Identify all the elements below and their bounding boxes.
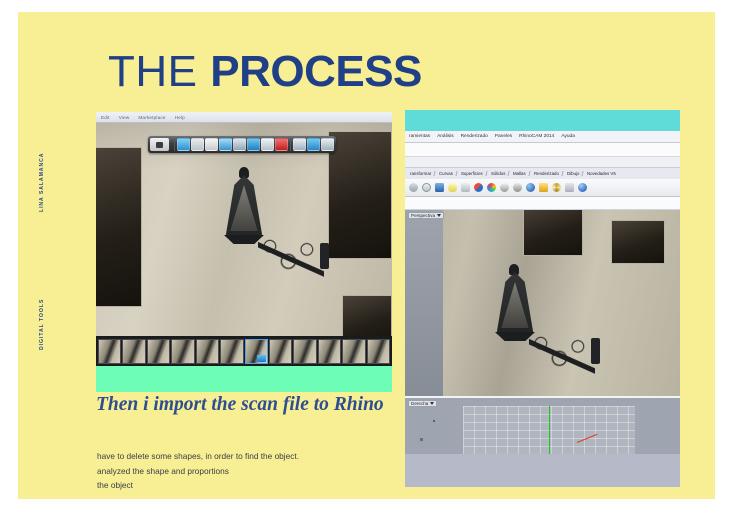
light-bulb-icon[interactable] <box>448 183 457 192</box>
tab-novedades-v5[interactable]: Novedades V5 <box>584 171 620 176</box>
rhino-menu-renderizado[interactable]: Renderizado <box>461 134 488 139</box>
viewport-window-upper <box>523 210 583 256</box>
rhino-menu-herramientas[interactable]: ramientas <box>409 134 430 139</box>
scan-app-screenshot: Edit View Marketplace Help <box>96 112 392 392</box>
duplicate-icon[interactable] <box>191 138 204 151</box>
tab-mallas[interactable]: Mallas <box>510 171 531 176</box>
scan-capture-toolbar[interactable] <box>148 136 336 153</box>
tab-label: Dibujo <box>567 171 579 176</box>
lamp-scroll-arm <box>258 239 324 279</box>
rhino-viewport-derecha[interactable]: Derecha <box>405 398 680 454</box>
body-line-1: have to delete some shapes, in order to … <box>97 449 397 464</box>
material-icon[interactable] <box>474 183 483 192</box>
photo-window-right <box>328 131 392 259</box>
tab-dibujo[interactable]: Dibujo <box>563 171 584 176</box>
photo-window-left <box>96 147 142 307</box>
shade-sphere-icon[interactable] <box>500 183 509 192</box>
rhino-status-line <box>405 197 680 210</box>
rhino-menu-paneles[interactable]: Paneles <box>495 134 512 139</box>
rhino-menubar: ramientas Análisis Renderizado Paneles R… <box>405 131 680 143</box>
mask-icon[interactable] <box>205 138 218 151</box>
tab-curvas[interactable]: Curvas <box>436 171 458 176</box>
scan-menu-marketplace[interactable]: Marketplace <box>138 115 165 120</box>
tab-label: Superficies <box>461 171 483 176</box>
body-line-2: analyzed the shape and proportions <box>97 464 397 479</box>
chevron-down-icon[interactable] <box>437 214 441 217</box>
viewport-window-right <box>611 220 665 264</box>
export-icon[interactable] <box>321 138 334 151</box>
rhino-viewport-perspective[interactable]: Perspectiva <box>405 210 680 396</box>
rhino-menu-ayuda[interactable]: Ayuda <box>561 134 575 139</box>
viewport-lamp-mount <box>591 338 600 364</box>
viewport-point-b <box>420 438 423 441</box>
list-item[interactable] <box>220 339 243 364</box>
list-item[interactable] <box>293 339 316 364</box>
toolbar-divider-2 <box>290 138 291 151</box>
select-icon[interactable] <box>409 183 418 192</box>
mint-accent-bar <box>96 366 392 392</box>
bounding-box-icon[interactable] <box>565 183 574 192</box>
axis-y-green <box>549 406 550 454</box>
list-item[interactable] <box>171 339 194 364</box>
camera-shutter-icon[interactable] <box>150 138 169 151</box>
side-label-course: DIGITAL TOOLS <box>39 299 45 350</box>
slide-page: LINA SALAMANCA DIGITAL TOOLS THE PROCESS… <box>18 12 715 499</box>
rhino-toolbar[interactable] <box>405 179 680 197</box>
tab-solidos[interactable]: Sólidos <box>487 171 509 176</box>
list-item[interactable] <box>196 339 219 364</box>
tab-transformar[interactable]: ransformar <box>406 171 435 176</box>
scan-menu-help[interactable]: Help <box>175 115 185 120</box>
help-icon[interactable] <box>578 183 587 192</box>
rhino-command-prompt[interactable] <box>405 143 680 157</box>
scan-thumbnail-filmstrip[interactable] <box>96 336 392 366</box>
environment-icon[interactable] <box>552 183 561 192</box>
rhino-screenshot: ramientas Análisis Renderizado Paneles R… <box>405 110 680 487</box>
tab-label: Renderizado <box>534 171 559 176</box>
list-item[interactable] <box>342 339 365 364</box>
viewport-label-text: Derecha <box>411 401 428 406</box>
list-item[interactable] <box>98 339 121 364</box>
tab-superficies[interactable]: Superficies <box>458 171 488 176</box>
viewport-label-text: Perspectiva <box>411 213 435 218</box>
tab-label: Sólidos <box>491 171 505 176</box>
rhino-menu-analisis[interactable]: Análisis <box>437 134 454 139</box>
target-icon[interactable] <box>219 138 232 151</box>
viewport-label-perspectiva[interactable]: Perspectiva <box>408 212 444 219</box>
viewport-label-derecha[interactable]: Derecha <box>408 400 437 407</box>
page-title: THE PROCESS <box>108 50 422 94</box>
list-item-selected[interactable] <box>245 339 268 364</box>
list-item[interactable] <box>147 339 170 364</box>
page-title-bold: PROCESS <box>210 47 422 96</box>
chevron-down-icon[interactable] <box>430 402 434 405</box>
list-item[interactable] <box>318 339 341 364</box>
color-wheel-icon[interactable] <box>487 183 496 192</box>
photo-capture-icon[interactable] <box>247 138 260 151</box>
layer-icon[interactable] <box>435 183 444 192</box>
viewport-point-a <box>433 420 435 422</box>
rhino-command-history <box>405 157 680 168</box>
list-item[interactable] <box>269 339 292 364</box>
texture-icon[interactable] <box>275 138 288 151</box>
scan-photo-stone-wall <box>96 123 392 336</box>
section-headline: Then i import the scan file to Rhino <box>96 393 396 417</box>
rhino-tab-bar[interactable]: ransformar Curvas Superficies Sólidos Ma… <box>405 168 680 179</box>
scan-menu-edit[interactable]: Edit <box>101 115 110 120</box>
lamp-wall-mount <box>320 243 329 269</box>
scan-app-menubar: Edit View Marketplace Help <box>96 112 392 123</box>
render-sphere-icon[interactable] <box>513 183 522 192</box>
viewport-left-gutter <box>405 210 443 396</box>
tab-label: Mallas <box>513 171 526 176</box>
lock-icon[interactable] <box>461 183 470 192</box>
image-icon[interactable] <box>177 138 190 151</box>
toolbar-divider <box>174 138 175 151</box>
tab-renderizado[interactable]: Renderizado <box>530 171 563 176</box>
list-item[interactable] <box>367 339 390 364</box>
body-text: have to delete some shapes, in order to … <box>97 449 397 493</box>
tab-label: Curvas <box>439 171 453 176</box>
tab-label: Novedades V5 <box>587 171 616 176</box>
side-label-school: LINA SALAMANCA <box>39 153 45 212</box>
tab-label: ransformar <box>410 171 431 176</box>
eraser-icon[interactable] <box>261 138 274 151</box>
body-line-3: the object <box>97 478 397 493</box>
spotlight-icon[interactable] <box>539 183 548 192</box>
history-icon[interactable] <box>422 183 431 192</box>
scan-menu-view[interactable]: View <box>119 115 130 120</box>
page-title-light: THE <box>108 47 210 96</box>
measure-icon[interactable] <box>293 138 306 151</box>
align-icon[interactable] <box>233 138 246 151</box>
rhino-menu-rhinocam[interactable]: RhinoCAM 2014 <box>519 134 554 139</box>
teal-accent-bar <box>405 110 680 131</box>
globe-icon[interactable] <box>307 138 320 151</box>
globe-blue-icon[interactable] <box>526 183 535 192</box>
list-item[interactable] <box>122 339 145 364</box>
viewport-lamp-arm <box>529 336 595 376</box>
